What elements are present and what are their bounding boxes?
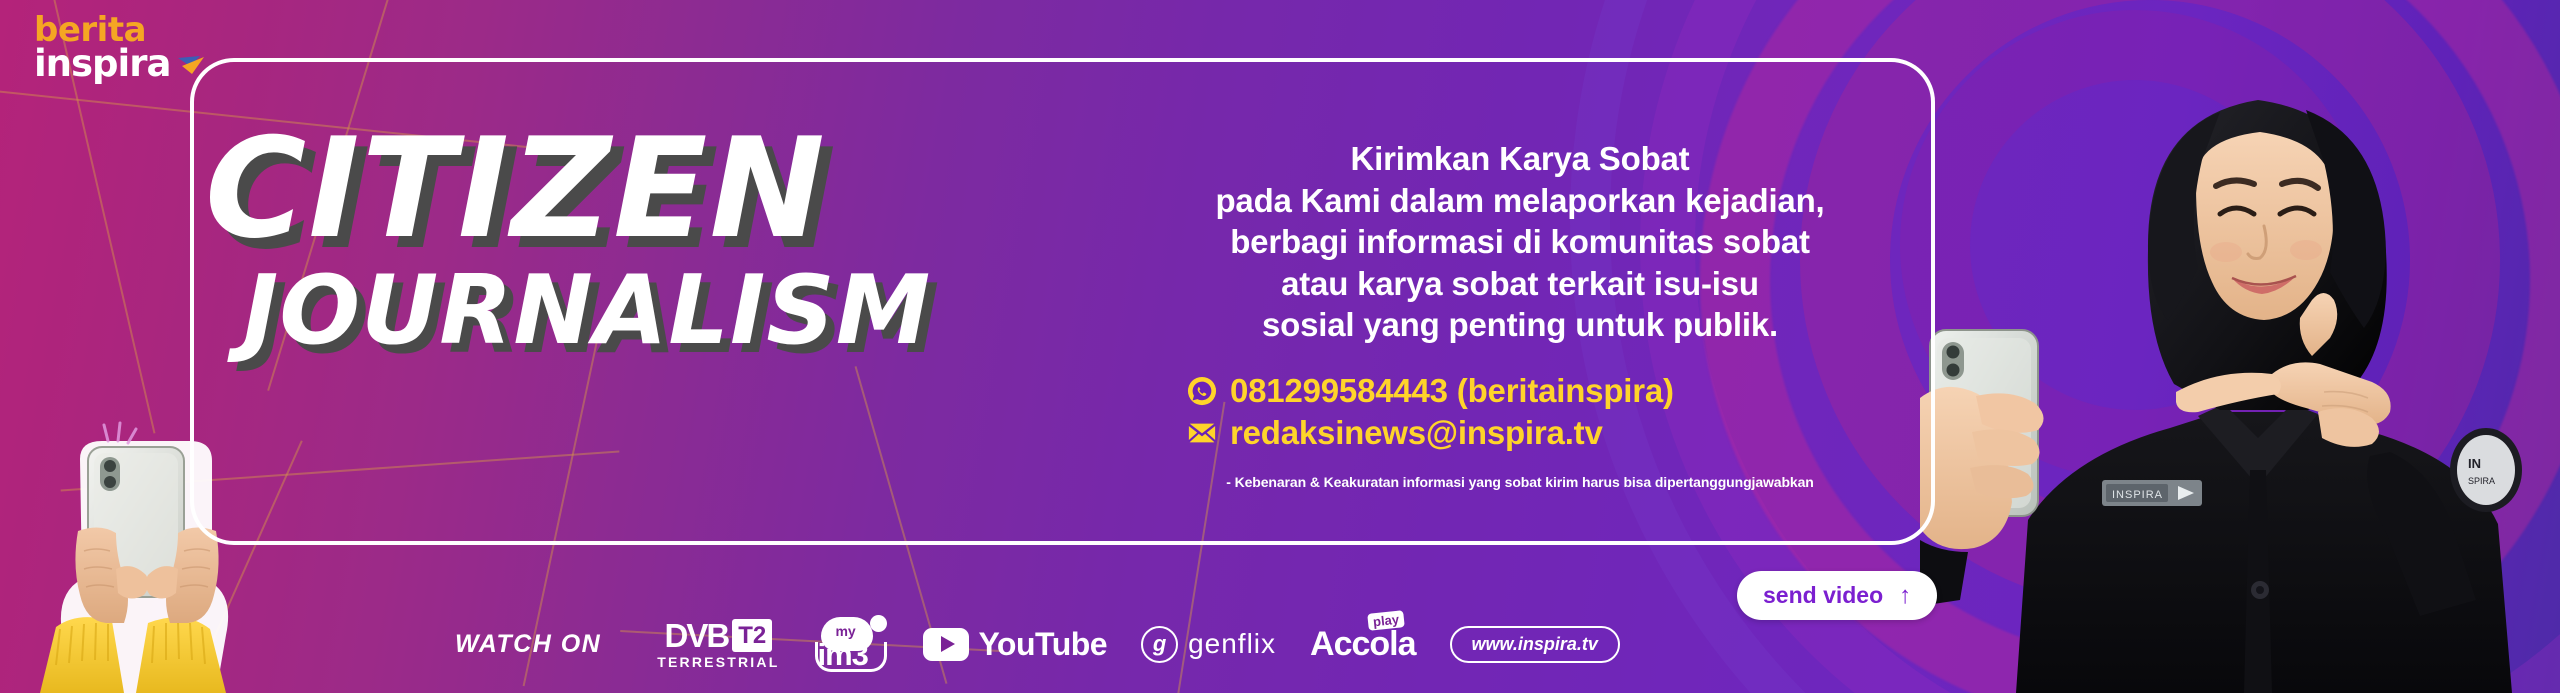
genflix-wordmark: genflix [1188, 628, 1276, 660]
description-block: Kirimkan Karya Sobat pada Kami dalam mel… [1135, 138, 1905, 490]
description-line-5: sosial yang penting untuk publik. [1135, 304, 1905, 346]
description-line-2: pada Kami dalam melaporkan kejadian, [1135, 180, 1905, 222]
watch-on-strip: WATCH ON DVB T2 TERRESTRIAL my im3 YouTu… [455, 615, 1620, 673]
svg-text:IN: IN [2468, 456, 2481, 471]
brand-logo-youtube[interactable]: YouTube [923, 626, 1107, 663]
svg-text:SPIRA: SPIRA [2468, 476, 2495, 486]
contact-block: 081299584443 (beritainspira) redaksinews… [1135, 372, 1905, 452]
dvb-terrestrial-label: TERRESTRIAL [657, 655, 779, 669]
accola-play-tag: play [1367, 610, 1405, 631]
citizen-journalism-banner: INSPIRA IN SPIRA [0, 0, 2560, 693]
whatsapp-icon [1187, 376, 1217, 406]
svg-text:INSPIRA: INSPIRA [2112, 489, 2163, 501]
brand-logo-accola[interactable]: Accola play [1310, 625, 1416, 664]
description-line-4: atau karya sobat terkait isu-isu [1135, 263, 1905, 305]
watch-on-label: WATCH ON [455, 630, 601, 659]
youtube-wordmark: YouTube [978, 626, 1107, 663]
dvb-t2-badge: T2 [732, 619, 772, 652]
woman-with-phone-image: INSPIRA IN SPIRA [1920, 0, 2560, 693]
contact-email-text: redaksinews@inspira.tv [1230, 414, 1603, 452]
contact-email-row[interactable]: redaksinews@inspira.tv [1187, 414, 1905, 452]
description-line-1: Kirimkan Karya Sobat [1135, 138, 1905, 180]
hands-holding-phone-image [20, 383, 350, 693]
genflix-mark-icon: g [1141, 626, 1178, 663]
accola-wordmark: Accola [1310, 625, 1416, 664]
brand-logo[interactable]: berita inspira [34, 14, 206, 81]
brand-logo-dvb-t2[interactable]: DVB T2 TERRESTRIAL [657, 619, 779, 669]
headline-block: CITIZEN JOURNALISM [205, 120, 931, 359]
brand-logo-genflix[interactable]: g genflix [1141, 626, 1276, 663]
contact-phone-row[interactable]: 081299584443 (beritainspira) [1187, 372, 1905, 410]
up-arrow-icon: ↑ [1899, 584, 1911, 608]
arrow-mark-icon [176, 54, 206, 76]
im3-wordmark: im3 [817, 637, 867, 673]
send-video-button[interactable]: send video ↑ [1737, 571, 1937, 620]
disclaimer-text: - Kebenaran & Keakuratan informasi yang … [1135, 474, 1905, 490]
send-video-label: send video [1763, 582, 1883, 609]
brand-logo-myim3[interactable]: my im3 [813, 615, 889, 673]
im3-my-label: my [835, 623, 855, 639]
contact-phone-text: 081299584443 (beritainspira) [1230, 372, 1674, 410]
description-line-3: berbagi informasi di komunitas sobat [1135, 221, 1905, 263]
headline-line-citizen: CITIZEN [205, 120, 931, 258]
logo-text-inspira: inspira [34, 46, 170, 81]
website-pill[interactable]: www.inspira.tv [1450, 626, 1620, 663]
im3-dot-shape [870, 615, 887, 632]
envelope-icon [1187, 418, 1217, 448]
youtube-play-icon [923, 628, 969, 661]
dvb-wordmark: DVB [665, 619, 729, 652]
headline-line-journalism: JOURNALISM [243, 264, 931, 359]
